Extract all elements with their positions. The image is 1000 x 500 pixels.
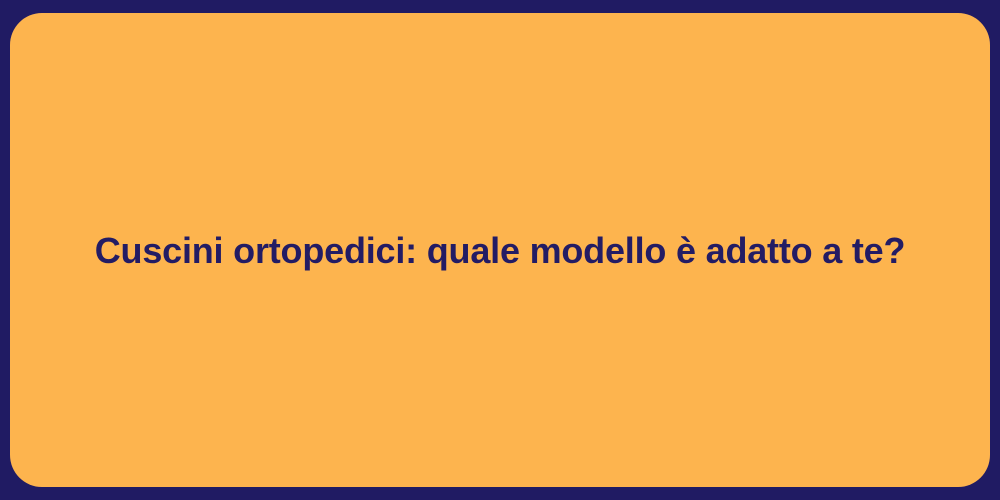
banner-title: Cuscini ortopedici: quale modello è adat… (95, 228, 906, 273)
banner-card: Cuscini ortopedici: quale modello è adat… (10, 13, 990, 487)
banner-frame: Cuscini ortopedici: quale modello è adat… (0, 0, 1000, 500)
